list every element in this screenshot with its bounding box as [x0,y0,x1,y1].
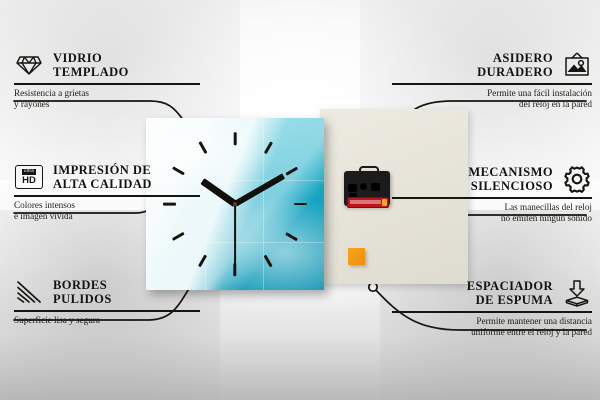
ultra-hd-icon-top-text: ultra [22,169,36,175]
mechanism-knob [348,184,357,192]
ultra-hd-icon: ultra HD [14,162,44,192]
feature-desc-line2: y rayones [14,99,229,110]
feature-desc-line1: Permite mantener una distancia [377,316,592,327]
polished-edge-icon [14,277,44,307]
feature-desc-line2: e imagen vívida [14,211,229,222]
feature-title-line2: DE ESPUMA [467,293,553,307]
feature-title-line2: SILENCIOSO [468,179,553,193]
feature-divider [392,197,592,199]
clock-second-hand [234,204,236,264]
feature-mecanismo-silencioso: MECANISMO SILENCIOSO Las manecillas del … [377,164,592,224]
feature-impresion-alta-calidad: ultra HD IMPRESIÓN DE ALTA CALIDAD Color… [14,162,229,222]
feature-vidrio-templado: VIDRIO TEMPLADO Resistencia a grietas y … [14,50,229,110]
clock-center-hub [233,202,237,206]
diamond-icon [14,50,44,80]
feature-title-line1: IMPRESIÓN DE [53,163,152,177]
feature-title-line1: BORDES [53,278,112,292]
clock-tick [285,232,298,241]
ultra-hd-icon-main-text: HD [22,176,36,186]
hanging-frame-icon [562,50,592,80]
feature-title-line1: ESPACIADOR [467,279,553,293]
feature-divider [14,195,200,197]
clock-tick [198,254,207,267]
feature-desc-line1: Colores intensos [14,200,229,211]
feature-espaciador-de-espuma: ESPACIADOR DE ESPUMA Permite mantener un… [377,278,592,338]
endpoint-espaciador [369,283,377,291]
feature-divider [392,83,592,85]
feature-title-line1: MECANISMO [468,165,553,179]
feature-title-line2: DURADERO [477,65,553,79]
feature-title-line1: VIDRIO [53,51,129,65]
clock-tick [263,254,272,267]
infographic-canvas: VIDRIO TEMPLADO Resistencia a grietas y … [0,0,600,400]
feature-desc-line2: no emiten ningún sonido [377,213,592,224]
clock-tick [198,141,207,154]
feature-title-line2: PULIDOS [53,292,112,306]
feature-title-line1: ASIDERO [477,51,553,65]
clock-minute-hand [234,174,285,207]
feature-desc-line1: Resistencia a grietas [14,88,229,99]
clock-tick [234,263,237,276]
feature-divider [14,83,200,85]
feature-asidero-duradero: ASIDERO DURADERO Permite una fácil insta… [377,50,592,110]
feature-divider [392,311,592,313]
feature-desc-line1: Permite una fácil instalación [377,88,592,99]
clock-tick [263,141,272,154]
feature-desc-line2: uniforme entre el reloj y la pared [377,327,592,338]
gear-icon [562,164,592,194]
foam-spacer [348,248,365,265]
feature-title-line2: ALTA CALIDAD [53,177,152,191]
feature-desc-line2: del reloj en la pared [377,99,592,110]
feature-desc-line1: Las manecillas del reloj [377,202,592,213]
clock-tick [172,232,185,241]
feature-title-line2: TEMPLADO [53,65,129,79]
clock-tick [285,167,298,176]
feature-divider [14,310,200,312]
clock-tick [234,132,237,145]
clock-tick [294,203,307,206]
feature-bordes-pulidos: BORDES PULIDOS Superficie lisa y segura [14,277,229,326]
press-down-pad-icon [562,278,592,308]
mechanism-dial [360,183,367,190]
feature-desc-line1: Superficie lisa y segura [14,315,229,326]
